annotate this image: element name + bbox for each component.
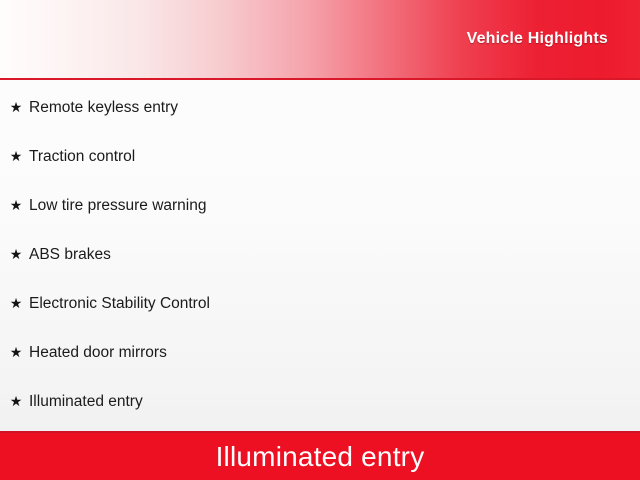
list-item[interactable]: ★ Electronic Stability Control (0, 279, 640, 328)
star-icon: ★ (8, 132, 24, 181)
list-item[interactable]: ★ Heated door mirrors (0, 328, 640, 377)
list-item[interactable]: ★ Traction control (0, 132, 640, 181)
highlight-label: Electronic Stability Control (29, 295, 210, 312)
highlight-label: Heated door mirrors (29, 344, 167, 361)
highlight-label: ABS brakes (29, 246, 111, 263)
header-banner: Vehicle Highlights (0, 0, 640, 80)
list-item[interactable]: ★ Low tire pressure warning (0, 181, 640, 230)
list-item[interactable]: ★ ABS brakes (0, 230, 640, 279)
footer-banner: Illuminated entry (0, 431, 640, 480)
star-icon: ★ (8, 230, 24, 279)
star-icon: ★ (8, 328, 24, 377)
star-icon: ★ (8, 377, 24, 426)
vehicle-highlights-panel: Vehicle Highlights ★ Remote keyless entr… (0, 0, 640, 480)
vehicle-highlights-list: ★ Remote keyless entry ★ Traction contro… (0, 80, 640, 431)
star-icon: ★ (8, 279, 24, 328)
highlight-label: Illuminated entry (29, 393, 143, 410)
page-title: Vehicle Highlights (467, 30, 608, 48)
highlight-label: Traction control (29, 148, 135, 165)
star-icon: ★ (8, 181, 24, 230)
footer-caption: Illuminated entry (216, 441, 425, 473)
list-item[interactable]: ★ Illuminated entry (0, 377, 640, 426)
highlight-label: Low tire pressure warning (29, 197, 206, 214)
list-item[interactable]: ★ Remote keyless entry (0, 83, 640, 132)
highlight-label: Remote keyless entry (29, 99, 178, 116)
star-icon: ★ (8, 83, 24, 132)
